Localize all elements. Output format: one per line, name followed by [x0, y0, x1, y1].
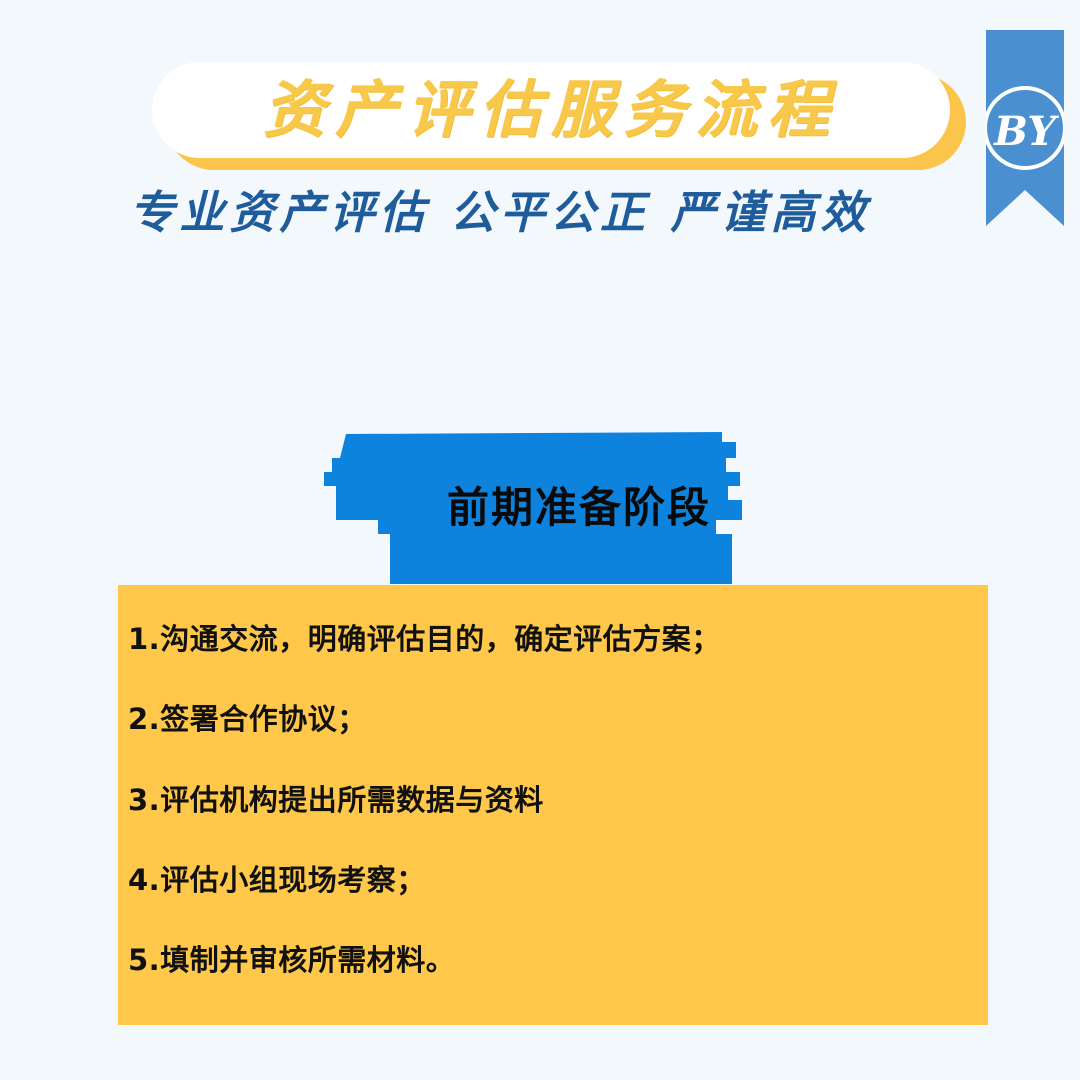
- list-item: 2.签署合作协议；: [128, 701, 962, 737]
- ribbon-badge-icon: BY: [986, 30, 1064, 226]
- stage-banner-label: 前期准备阶段: [318, 428, 786, 588]
- content-card: 1.沟通交流，明确评估目的，确定评估方案； 2.签署合作协议； 3.评估机构提出…: [118, 585, 988, 1025]
- svg-text:BY: BY: [993, 108, 1059, 155]
- list-item: 3.评估机构提出所需数据与资料: [128, 782, 962, 818]
- header-block: 资产评估服务流程 专业资产评估 公平公正 严谨高效 BY: [0, 0, 1080, 270]
- poster-root: 资产评估服务流程 专业资产评估 公平公正 严谨高效 BY 前期准备阶段 1.沟通…: [0, 0, 1080, 1080]
- page-title: 资产评估服务流程: [152, 62, 950, 158]
- page-subtitle: 专业资产评估 公平公正 严谨高效: [0, 186, 1000, 240]
- list-item: 4.评估小组现场考察；: [128, 862, 962, 898]
- list-item: 1.沟通交流，明确评估目的，确定评估方案；: [128, 621, 962, 657]
- list-item: 5.填制并审核所需材料。: [128, 942, 962, 978]
- process-step-list: 1.沟通交流，明确评估目的，确定评估方案； 2.签署合作协议； 3.评估机构提出…: [128, 621, 962, 978]
